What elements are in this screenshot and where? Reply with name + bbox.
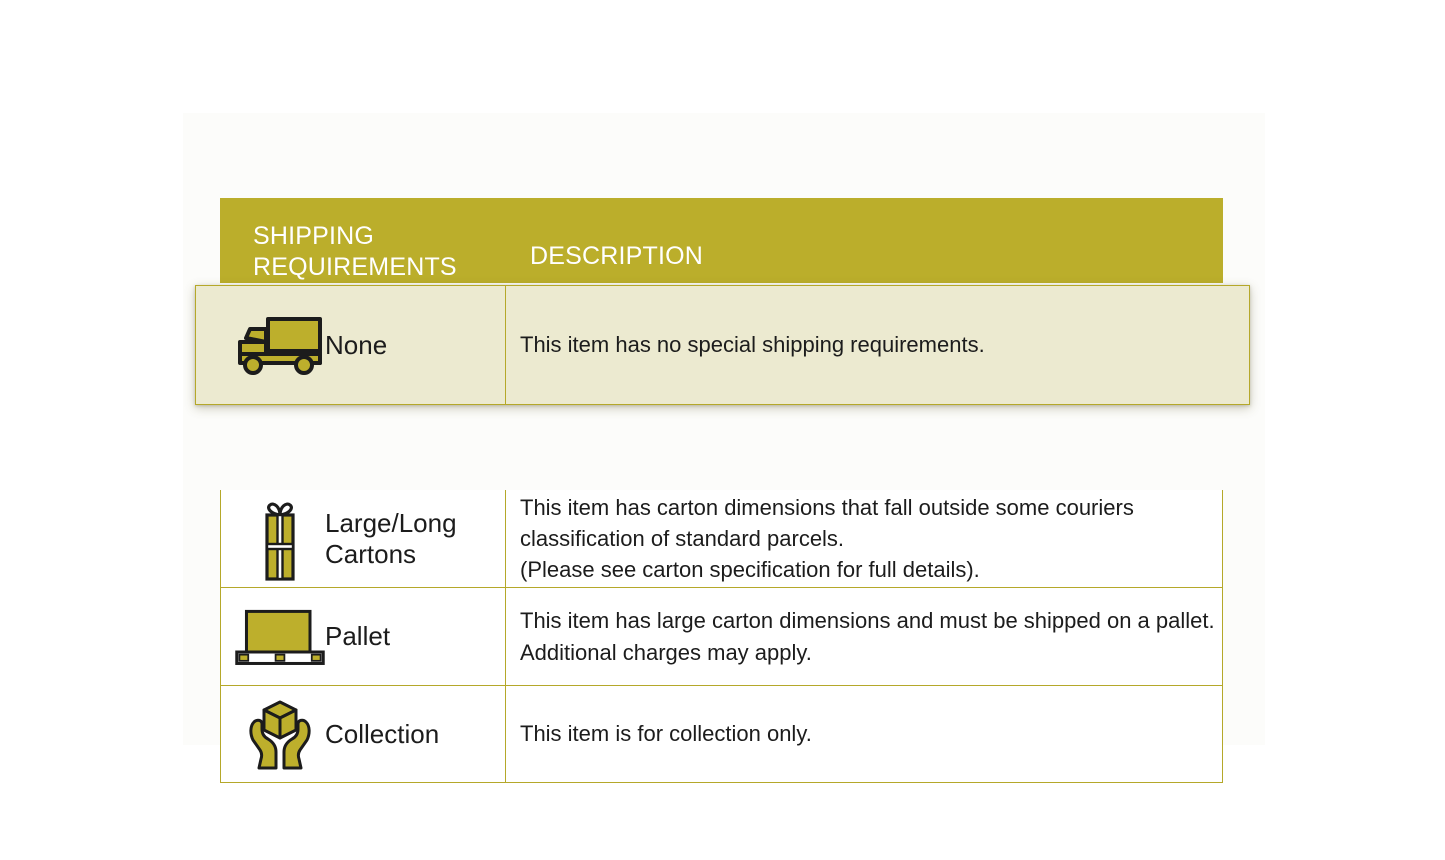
table-row-large-long-cartons[interactable]: Large/Long Cartons This item has carton … [220,490,1223,588]
row-description-large-long-cartons: This item has carton dimensions that fal… [520,492,1222,586]
table-row-none[interactable]: None This item has no special shipping r… [195,285,1250,405]
table-row-collection[interactable]: Collection This item is for collection o… [220,686,1223,783]
cell-description-pallet: This item has large carton dimensions an… [506,588,1222,685]
cell-description-collection: This item is for collection only. [506,686,1222,782]
cell-label-pallet: Pallet [221,588,506,685]
row-description-pallet: This item has large carton dimensions an… [520,605,1222,667]
row-label-large-long-cartons: Large/Long Cartons [325,508,505,569]
cell-label-none: None [196,286,506,404]
table-header-row: SHIPPING REQUIREMENTS DESCRIPTION [220,198,1223,283]
row-label-collection: Collection [325,719,439,750]
shipping-requirements-table: SHIPPING REQUIREMENTS DESCRIPTION [220,198,1223,783]
row-label-none: None [325,330,387,361]
cell-label-large-long-cartons: Large/Long Cartons [221,490,506,587]
delivery-truck-icon [235,314,325,376]
row-description-none: This item has no special shipping requir… [520,329,985,360]
table-row-pallet[interactable]: Pallet This item has large carton dimens… [220,588,1223,686]
cell-description-none: This item has no special shipping requir… [506,286,1249,404]
cell-label-collection: Collection [221,686,506,782]
row-description-collection: This item is for collection only. [520,718,812,749]
pallet-icon [235,604,325,670]
cell-description-large-long-cartons: This item has carton dimensions that fal… [506,490,1222,587]
hands-holding-box-icon [235,696,325,772]
tall-gift-carton-icon [235,496,325,582]
row-label-pallet: Pallet [325,621,390,652]
column-header-shipping-requirements: SHIPPING REQUIREMENTS [253,221,503,284]
column-header-description: DESCRIPTION [530,241,930,272]
